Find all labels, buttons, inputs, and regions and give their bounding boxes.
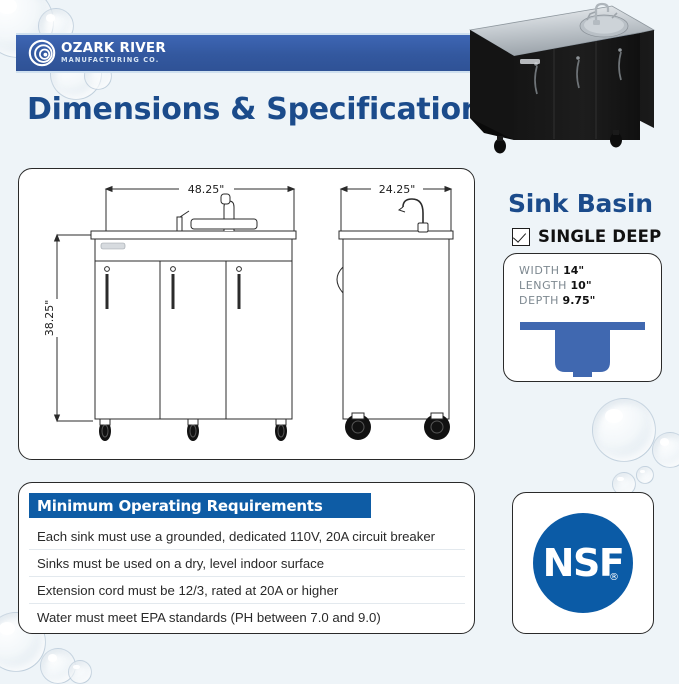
basin-spec-panel: WIDTH 14" LENGTH 10" DEPTH 9.75" [503, 253, 662, 382]
requirements-heading: Minimum Operating Requirements [29, 497, 323, 515]
nsf-certification-panel: NSF ® [512, 492, 654, 634]
bubble-decoration [592, 398, 656, 462]
water-swirl-icon [28, 39, 56, 67]
requirement-item: Sinks must be used on a dry, level indoo… [29, 550, 465, 577]
requirement-item: Each sink must use a grounded, dedicated… [29, 523, 465, 550]
requirements-heading-bar: Minimum Operating Requirements [29, 493, 371, 518]
brand-logo: OZARK RIVER MANUFACTURING CO. [28, 39, 166, 67]
dimension-drawing-panel: 48.25" 24.25" 38.25" [18, 168, 475, 460]
spec-sheet-page: OZARK RIVER MANUFACTURING CO. Dimensions… [0, 0, 679, 679]
requirements-panel: Minimum Operating Requirements Each sink… [18, 482, 475, 634]
brand-name: OZARK RIVER [61, 42, 166, 56]
single-deep-label: SINGLE DEEP [538, 227, 661, 246]
nsf-logo: NSF ® [533, 513, 633, 613]
basin-cross-section-diagram [504, 254, 661, 381]
requirement-item: Water must meet EPA standards (PH betwee… [29, 604, 465, 630]
brand-subtitle: MANUFACTURING CO. [61, 57, 166, 64]
single-deep-option[interactable]: SINGLE DEEP [512, 227, 661, 246]
bubble-decoration [636, 466, 654, 484]
front-width-dimension: 48.25" [188, 183, 225, 196]
front-height-dimension: 38.25" [43, 300, 56, 337]
page-title: Dimensions & Specifications [27, 92, 499, 127]
checkbox-checked-icon[interactable] [512, 228, 530, 246]
bubble-decoration [68, 660, 92, 684]
product-photo [462, 0, 662, 158]
requirement-item: Extension cord must be 12/3, rated at 20… [29, 577, 465, 604]
bubble-decoration [652, 432, 679, 468]
brand-logo-text: OZARK RIVER MANUFACTURING CO. [61, 42, 166, 63]
requirements-list: Each sink must use a grounded, dedicated… [29, 523, 465, 630]
registered-mark: ® [609, 572, 619, 583]
side-depth-dimension: 24.25" [379, 183, 416, 196]
sink-basin-heading: Sink Basin [508, 189, 653, 218]
